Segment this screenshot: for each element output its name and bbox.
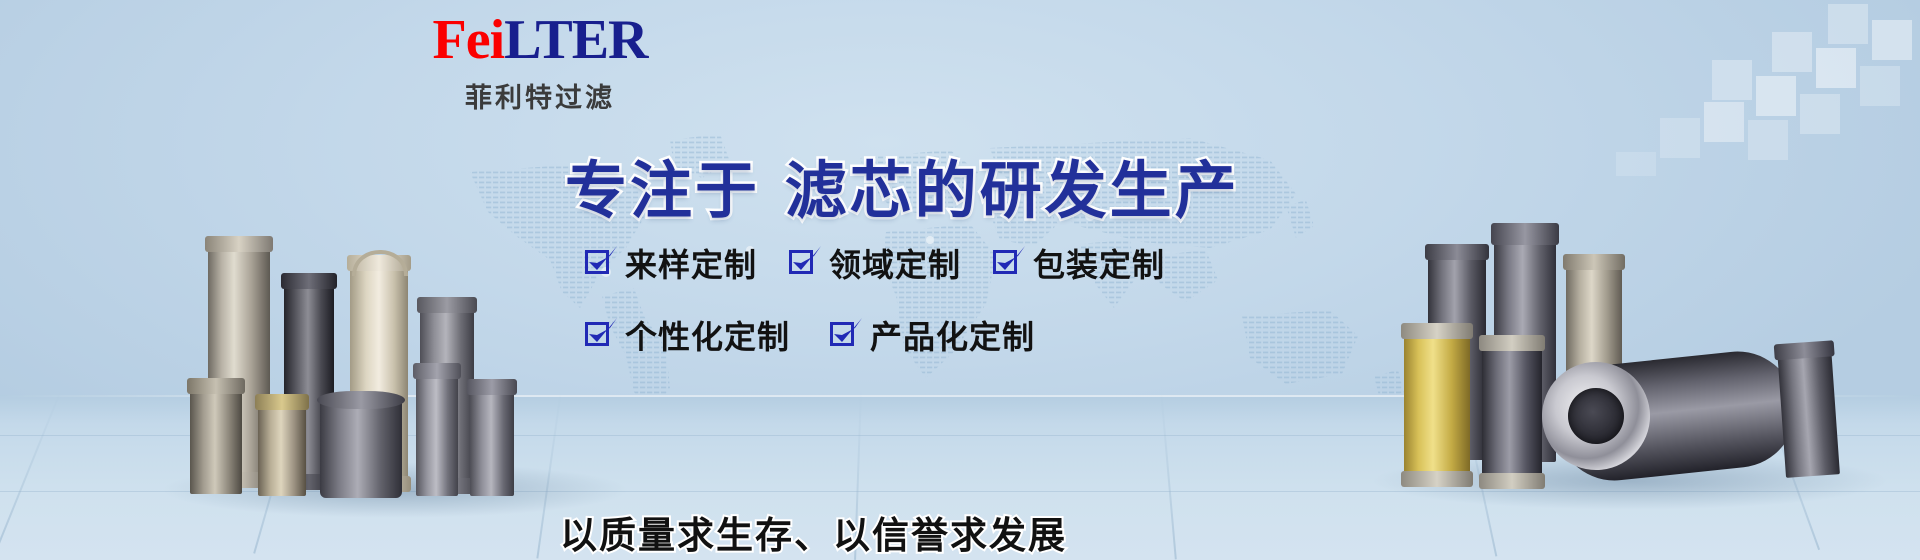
checkbox-checked-icon <box>585 248 615 278</box>
feature-item[interactable]: 包装定制 <box>993 240 1165 286</box>
filter-cartridge-gold <box>1404 330 1470 480</box>
logo-text-lter: LTER <box>504 9 647 71</box>
logo-wordmark: FeiLTER <box>390 12 690 68</box>
feature-row-2: 个性化定制 产品化定制 <box>585 312 1165 358</box>
feature-label: 产品化定制 <box>870 312 1035 358</box>
filter-cartridge <box>190 384 242 494</box>
feature-item[interactable]: 领域定制 <box>789 240 961 286</box>
filter-cartridge <box>320 398 402 498</box>
filter-cartridge <box>470 384 514 496</box>
checkbox-checked-icon <box>789 248 819 278</box>
filter-cartridge <box>258 400 306 496</box>
product-cluster-right <box>1390 190 1870 490</box>
checkbox-checked-icon <box>993 248 1023 278</box>
product-cluster-left <box>180 170 600 500</box>
headline-text: 专注于 滤芯的研发生产 <box>565 140 1240 230</box>
feature-label: 个性化定制 <box>625 312 790 358</box>
filter-cartridge <box>416 368 458 496</box>
feature-row-1: 来样定制 领域定制 包装定制 <box>585 240 1165 286</box>
feature-item[interactable]: 个性化定制 <box>585 312 790 358</box>
feature-item[interactable]: 来样定制 <box>585 240 757 286</box>
filter-cartridge <box>1777 346 1840 477</box>
tagline-text: 以质量求生存、以信誉求发展 <box>560 505 1067 559</box>
logo-chinese-name: 菲利特过滤 <box>390 76 690 115</box>
checkbox-checked-icon <box>830 320 860 350</box>
feature-item[interactable]: 产品化定制 <box>830 312 1035 358</box>
feature-label: 来样定制 <box>625 240 757 286</box>
promo-banner: FeiLTER 菲利特过滤 专注于 滤芯的研发生产 来样定制 <box>0 0 1920 560</box>
logo-text-fei: Fei <box>433 9 505 71</box>
cartridge-handle-icon <box>348 238 412 278</box>
feature-label: 领域定制 <box>829 240 961 286</box>
brand-logo: FeiLTER 菲利特过滤 <box>390 12 690 115</box>
checkbox-checked-icon <box>585 320 615 350</box>
feature-label: 包装定制 <box>1033 240 1165 286</box>
mosaic-decoration <box>1360 0 1920 200</box>
filter-cartridge <box>1482 342 1542 482</box>
feature-list: 来样定制 领域定制 包装定制 <box>585 240 1165 380</box>
